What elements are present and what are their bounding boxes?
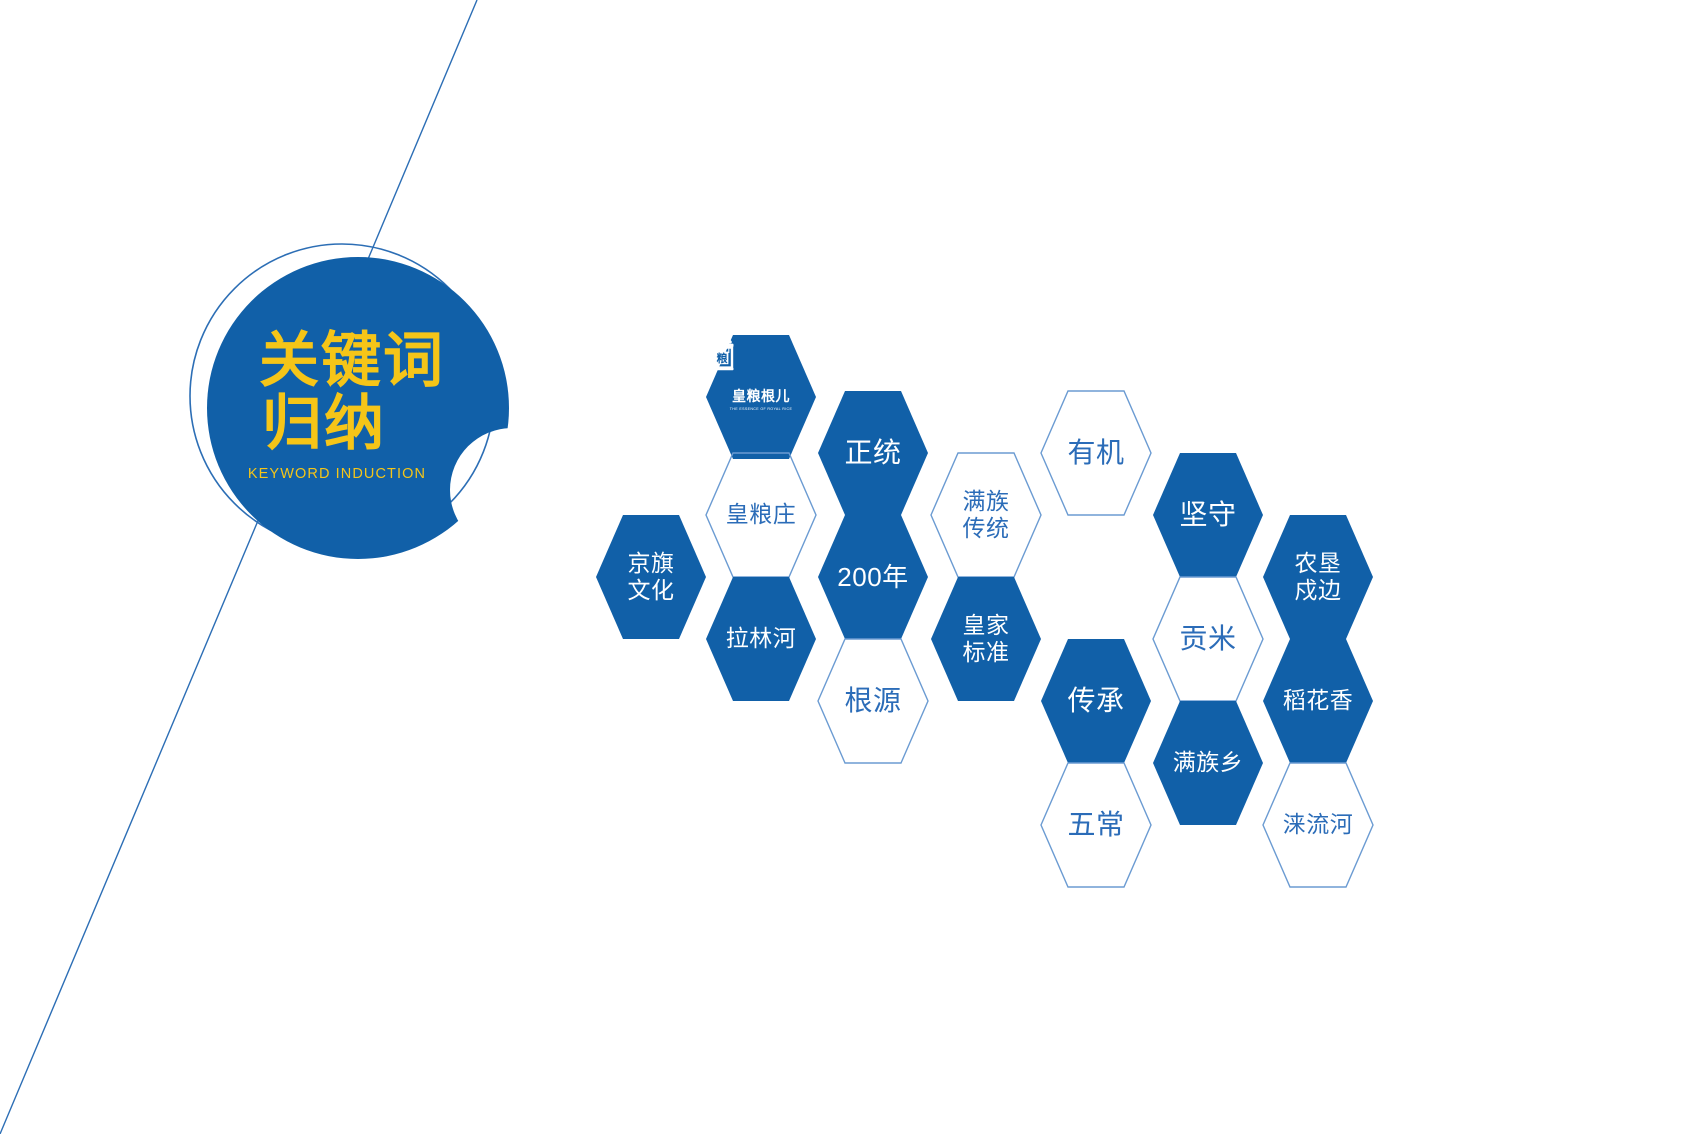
hexagon-outline (1263, 763, 1373, 887)
hexagon-shape (595, 514, 707, 640)
hexagon-outline (931, 453, 1041, 577)
keyword-hexagon-n200[interactable]: 200年 (817, 514, 929, 640)
hexagon-shape (817, 390, 929, 516)
hexagon-shape (1262, 762, 1374, 888)
slide-canvas: 关键词 归纳 KEYWORD INDUCTION 粮皇粮根儿THE ESSENC… (0, 0, 1700, 1134)
keyword-hexagon-brand[interactable]: 粮皇粮根儿THE ESSENCE OF ROYAL RICE (705, 334, 817, 460)
keyword-hexagon-chuancheng[interactable]: 传承 (1040, 638, 1152, 764)
keyword-hexagon-jianshou[interactable]: 坚守 (1152, 452, 1264, 578)
badge-fill (172, 228, 522, 584)
keyword-hexagon-manzuchuan[interactable]: 满族传统 (930, 452, 1042, 578)
hexagon-outline (1041, 391, 1151, 515)
hexagon-outline (818, 515, 928, 639)
keyword-hexagon-lailiuhe[interactable]: 涞流河 (1262, 762, 1374, 888)
hexagon-shape (1152, 576, 1264, 702)
hexagon-outline (1263, 639, 1373, 763)
hexagon-shape (1040, 762, 1152, 888)
hexagon-shape (1262, 514, 1374, 640)
badge-shape (172, 228, 522, 584)
keyword-hexagon-daohuaxiang[interactable]: 稻花香 (1262, 638, 1374, 764)
hexagon-shape (1040, 390, 1152, 516)
hexagon-outline (818, 639, 928, 763)
keyword-induction-badge: 关键词 归纳 KEYWORD INDUCTION (172, 228, 522, 584)
hexagon-outline (931, 577, 1041, 701)
keyword-hexagon-zhengtong[interactable]: 正统 (817, 390, 929, 516)
hexagon-shape (705, 576, 817, 702)
hexagon-shape (705, 334, 817, 460)
hexagon-outline (1263, 515, 1373, 639)
keyword-hexagon-manzuxiang[interactable]: 满族乡 (1152, 700, 1264, 826)
hexagon-outline (1041, 639, 1151, 763)
hexagon-outline (706, 335, 816, 459)
hexagon-outline (706, 453, 816, 577)
hexagon-outline (1041, 763, 1151, 887)
hexagon-shape (705, 452, 817, 578)
keyword-hexagon-gongmi[interactable]: 贡米 (1152, 576, 1264, 702)
keyword-hexagon-jingqi[interactable]: 京旗文化 (595, 514, 707, 640)
keyword-hexagon-lalinhe[interactable]: 拉林河 (705, 576, 817, 702)
hexagon-shape (817, 638, 929, 764)
hexagon-outline (818, 391, 928, 515)
keyword-hexagon-nongken[interactable]: 农垦戍边 (1262, 514, 1374, 640)
hexagon-shape (1152, 452, 1264, 578)
keyword-hexagon-huangliang[interactable]: 皇粮庄 (705, 452, 817, 578)
hexagon-outline (1153, 453, 1263, 577)
hexagon-shape (1152, 700, 1264, 826)
hexagon-shape (930, 576, 1042, 702)
hexagon-outline (1153, 701, 1263, 825)
keyword-hexagon-wuchang[interactable]: 五常 (1040, 762, 1152, 888)
keyword-hexagon-youji[interactable]: 有机 (1040, 390, 1152, 516)
keyword-hexagon-huangjia[interactable]: 皇家标准 (930, 576, 1042, 702)
hexagon-outline (1153, 577, 1263, 701)
hexagon-outline (596, 515, 706, 639)
hexagon-shape (817, 514, 929, 640)
hexagon-shape (1040, 638, 1152, 764)
hexagon-shape (1262, 638, 1374, 764)
keyword-hexagon-genyuan[interactable]: 根源 (817, 638, 929, 764)
hexagon-shape (930, 452, 1042, 578)
hexagon-outline (706, 577, 816, 701)
